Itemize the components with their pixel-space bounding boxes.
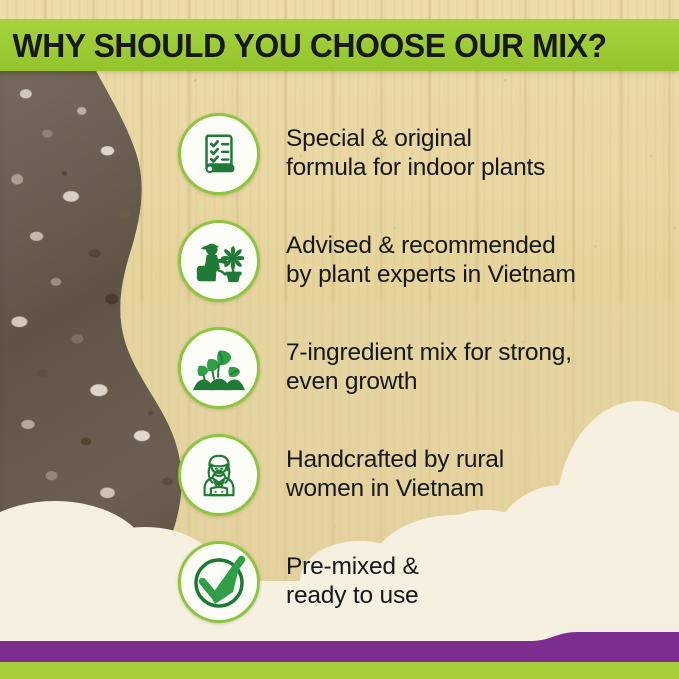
- seedlings-sprouts-icon: [178, 327, 260, 409]
- rural-woman-icon: [178, 434, 260, 516]
- infographic-panel: WHY SHOULD YOU CHOOSE OUR MIX? Sp: [0, 0, 679, 679]
- feature-row: Advised & recommended by plant experts i…: [0, 207, 679, 314]
- feature-line-2: by plant experts in Vietnam: [286, 261, 576, 289]
- feature-text: Advised & recommended by plant experts i…: [286, 232, 576, 289]
- footer-purple-bar: [0, 632, 679, 662]
- gardener-watering-icon: [178, 220, 260, 302]
- feature-line-2: women in Vietnam: [286, 475, 504, 503]
- checklist-document-icon: [178, 113, 260, 195]
- feature-text: Handcrafted by rural women in Vietnam: [286, 446, 504, 503]
- feature-row: Pre-mixed & ready to use: [0, 528, 679, 635]
- feature-line-1: 7-ingredient mix for strong,: [286, 339, 572, 367]
- feature-line-2: formula for indoor plants: [286, 154, 545, 182]
- feature-line-1: Pre-mixed &: [286, 553, 419, 581]
- feature-line-1: Handcrafted by rural: [286, 446, 504, 474]
- feature-text: Special & original formula for indoor pl…: [286, 125, 545, 182]
- feature-line-1: Special & original: [286, 125, 545, 153]
- feature-row: Special & original formula for indoor pl…: [0, 100, 679, 207]
- feature-row: 7-ingredient mix for strong, even growth: [0, 314, 679, 421]
- feature-line-1: Advised & recommended: [286, 232, 576, 260]
- feature-line-2: ready to use: [286, 582, 419, 610]
- feature-text: 7-ingredient mix for strong, even growth: [286, 339, 572, 396]
- page-title: WHY SHOULD YOU CHOOSE OUR MIX?: [0, 29, 607, 62]
- footer-green-bar: [0, 662, 679, 679]
- checkmark-circle-icon: [178, 541, 260, 623]
- header-banner: WHY SHOULD YOU CHOOSE OUR MIX?: [0, 19, 679, 71]
- feature-row: Handcrafted by rural women in Vietnam: [0, 421, 679, 528]
- feature-line-2: even growth: [286, 368, 572, 396]
- feature-list: Special & original formula for indoor pl…: [0, 100, 679, 635]
- feature-text: Pre-mixed & ready to use: [286, 553, 419, 610]
